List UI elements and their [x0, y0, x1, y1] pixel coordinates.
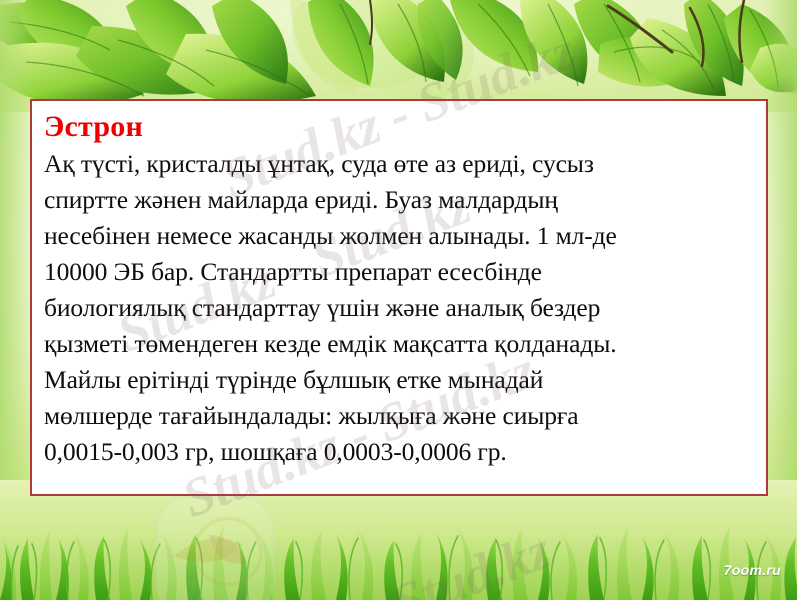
grass-decoration-band [0, 480, 797, 600]
slide: Эстрон Ақ түсті, кристалды ұнтақ, суда ө… [0, 0, 797, 600]
page-title: Эстрон [44, 109, 754, 145]
site-watermark-tag: 7oom.ru [724, 562, 781, 578]
leaf-decoration-band [0, 0, 797, 112]
body-text: Ақ түсті, кристалды ұнтақ, суда өте аз е… [44, 146, 754, 470]
content-card: Эстрон Ақ түсті, кристалды ұнтақ, суда ө… [30, 99, 768, 496]
